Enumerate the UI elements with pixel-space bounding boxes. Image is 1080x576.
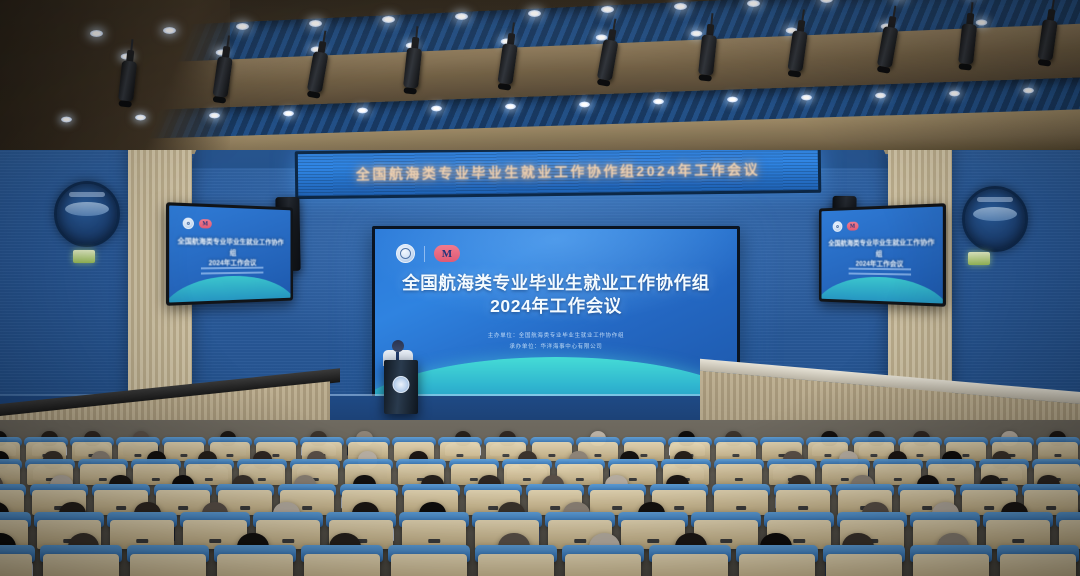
seat-number-tag — [720, 539, 732, 543]
lectern-emblem-icon — [393, 376, 410, 393]
seat-number-tag — [894, 478, 902, 481]
seat-back — [304, 554, 380, 576]
ceiling-downlight — [505, 103, 516, 109]
seat-number-tag — [1012, 539, 1024, 543]
ceiling-downlight — [579, 101, 590, 107]
audience-seat — [565, 554, 641, 576]
screen-logo-row: M — [396, 244, 460, 263]
audience-seat — [130, 554, 206, 576]
seat-number-tag — [428, 539, 440, 543]
ceiling-downlight — [875, 92, 886, 98]
spotlight-lens — [118, 100, 132, 107]
right-monitor-title-line1: 全国航海类专业毕业生就业工作协作组 — [828, 239, 935, 260]
seat-number-tag — [647, 539, 659, 543]
seat-number-tag — [947, 478, 955, 481]
seat-back — [716, 464, 762, 485]
screen-title-line2: 2024年工作会议 — [375, 295, 737, 318]
seat-number-tag — [488, 506, 498, 510]
seat-back — [590, 490, 644, 515]
audience-area — [0, 420, 1080, 576]
institution-seal-icon — [396, 244, 415, 263]
right-exit-sign-icon — [968, 252, 990, 265]
screen-title: 全国航海类专业毕业生就业工作协作组 2024年工作会议 — [375, 272, 737, 318]
seat-back — [0, 554, 32, 576]
audience-seat — [304, 554, 380, 576]
seat-back — [440, 442, 480, 461]
seat-number-tag — [226, 454, 233, 457]
left-monitor-screen: M 全国航海类专业毕业生就业工作协作组 2024年工作会议 — [169, 205, 290, 302]
ceiling-downlight — [135, 114, 146, 120]
seat-back — [652, 554, 728, 576]
screen-subtitle-line2: 承办单位：华洋海事中心有限公司 — [375, 342, 737, 353]
ceiling-downlight — [236, 23, 249, 30]
left-exit-sign-icon — [73, 250, 95, 263]
seat-number-tag — [1054, 454, 1061, 457]
seat-back — [43, 554, 119, 576]
ceiling-downlight — [90, 30, 103, 37]
audience-seat — [478, 554, 554, 576]
presenter-head — [392, 340, 404, 352]
right-monitor: M 全国航海类专业毕业生就业工作协作组 2024年工作会议 — [819, 203, 946, 307]
institution-seal-icon — [833, 221, 843, 232]
seat-number-tag — [272, 454, 279, 457]
seat-number-tag — [99, 478, 107, 481]
seat-back — [776, 490, 830, 515]
seat-number-tag — [502, 454, 509, 457]
seat-number-tag — [574, 539, 586, 543]
seat-back — [565, 554, 641, 576]
seat-number-tag — [922, 506, 932, 510]
ceiling-downlight — [528, 10, 541, 17]
seat-number-tag — [576, 478, 584, 481]
ceiling-downlight — [949, 90, 960, 96]
seat-number-tag — [962, 454, 969, 457]
seat-back — [1038, 442, 1078, 461]
seat-number-tag — [282, 539, 294, 543]
right-monitor-wave — [821, 276, 942, 304]
screen-subtitle: 主办单位：全国航海类专业毕业生就业工作协作组 承办单位：华洋海事中心有限公司 — [375, 331, 737, 353]
ceiling-downlight — [601, 6, 614, 13]
seat-number-tag — [824, 454, 831, 457]
seat-back — [1000, 554, 1076, 576]
ceiling-downlight — [309, 20, 322, 27]
audience-seat — [43, 554, 119, 576]
left-monitor-wave — [169, 275, 290, 303]
seat-back — [217, 554, 293, 576]
spotlight-lens — [958, 63, 972, 70]
left-monitor: M 全国航海类专业毕业生就业工作协作组 2024年工作会议 — [166, 202, 293, 306]
left-wall-emblem — [54, 181, 120, 247]
seat-number-tag — [736, 506, 746, 510]
seat-number-tag — [793, 539, 805, 543]
seat-back — [478, 554, 554, 576]
seat-back — [557, 464, 603, 485]
seat-number-tag — [550, 506, 560, 510]
seat-number-tag — [302, 506, 312, 510]
audience-seat — [217, 554, 293, 576]
ceiling-downlight — [747, 0, 760, 7]
seat-number-tag — [1046, 506, 1056, 510]
seat-back — [826, 554, 902, 576]
ceiling-downlight — [455, 13, 468, 20]
seat-number-tag — [674, 506, 684, 510]
seat-number-tag — [916, 454, 923, 457]
screen-subtitle-line1: 主办单位：全国航海类专业毕业生就业工作协作组 — [375, 331, 737, 342]
auditorium-photo: 全国航海类专业毕业生就业工作协作组2024年工作会议 M 全国航海类专业毕业生就… — [0, 0, 1080, 576]
ceiling-downlight — [163, 27, 176, 34]
m-logo-icon: M — [434, 245, 460, 262]
seat-number-tag — [136, 539, 148, 543]
lectern — [384, 360, 418, 414]
seat-number-tag — [870, 454, 877, 457]
seat-back — [391, 554, 467, 576]
right-monitor-screen: M 全国航海类专业毕业生就业工作协作组 2024年工作会议 — [821, 206, 942, 303]
audience-seat — [0, 554, 32, 576]
ceiling-downlight — [382, 16, 395, 23]
seat-number-tag — [523, 478, 531, 481]
seat-number-tag — [640, 454, 647, 457]
left-monitor-logos: M — [182, 218, 211, 230]
audience-seat — [739, 554, 815, 576]
screen-title-line1: 全国航海类专业毕业生就业工作协作组 — [375, 272, 737, 295]
audience-seat — [391, 554, 467, 576]
right-monitor-title: 全国航海类专业毕业生就业工作协作组 2024年工作会议 — [828, 239, 935, 271]
seat-number-tag — [548, 454, 555, 457]
seat-number-tag — [180, 454, 187, 457]
seat-number-tag — [470, 478, 478, 481]
seat-number-tag — [178, 506, 188, 510]
ceiling — [0, 0, 1080, 150]
ceiling-downlight — [801, 95, 812, 101]
ceiling-downlight — [674, 3, 687, 10]
seat-back — [130, 554, 206, 576]
audience-seat — [652, 554, 728, 576]
seat-back — [532, 442, 572, 461]
main-led-screen: M 全国航海类专业毕业生就业工作协作组 2024年工作会议 主办单位：全国航海类… — [372, 226, 740, 400]
seat-number-tag — [456, 454, 463, 457]
m-logo-icon: M — [199, 219, 212, 229]
spotlight-lens — [213, 95, 227, 103]
seat-number-tag — [152, 478, 160, 481]
seat-back — [714, 490, 768, 515]
seat-back — [716, 442, 756, 461]
seat-back — [875, 464, 921, 485]
seat-number-tag — [116, 506, 126, 510]
seat-number-tag — [258, 478, 266, 481]
seat-back — [0, 464, 20, 485]
ceiling-left-shadow — [0, 0, 230, 150]
institution-seal-icon — [182, 218, 193, 230]
seat-number-tag — [134, 454, 141, 457]
seat-number-tag — [732, 454, 739, 457]
audience-seat — [1000, 554, 1076, 576]
ceiling-downlight — [209, 112, 220, 118]
led-banner-text: 全国航海类专业毕业生就业工作协作组2024年工作会议 — [356, 160, 760, 185]
seat-back — [739, 554, 815, 576]
seat-number-tag — [209, 539, 221, 543]
ceiling-downlight — [283, 110, 294, 116]
logo-divider — [424, 246, 425, 262]
seat-number-tag — [205, 478, 213, 481]
seat-number-tag — [735, 478, 743, 481]
seat-number-tag — [594, 454, 601, 457]
main-screen-surface: M 全国航海类专业毕业生就业工作协作组 2024年工作会议 主办单位：全国航海类… — [375, 229, 737, 397]
m-logo-icon: M — [847, 222, 859, 231]
led-banner: 全国航海类专业毕业生就业工作协作组2024年工作会议 — [295, 145, 822, 199]
left-monitor-title-line1: 全国航海类专业毕业生就业工作协作组 — [177, 238, 284, 259]
seat-number-tag — [841, 478, 849, 481]
seat-back — [913, 554, 989, 576]
seat-back — [1024, 490, 1078, 515]
seat-number-tag — [798, 506, 808, 510]
seat-number-tag — [629, 478, 637, 481]
seat-number-tag — [612, 506, 622, 510]
seat-number-tag — [984, 506, 994, 510]
left-monitor-title: 全国航海类专业毕业生就业工作协作组 2024年工作会议 — [177, 238, 284, 270]
audience-seat — [913, 554, 989, 576]
right-monitor-logos: M — [833, 221, 859, 232]
right-wall-emblem — [962, 186, 1028, 252]
seat-number-tag — [240, 506, 250, 510]
audience-seat — [826, 554, 902, 576]
